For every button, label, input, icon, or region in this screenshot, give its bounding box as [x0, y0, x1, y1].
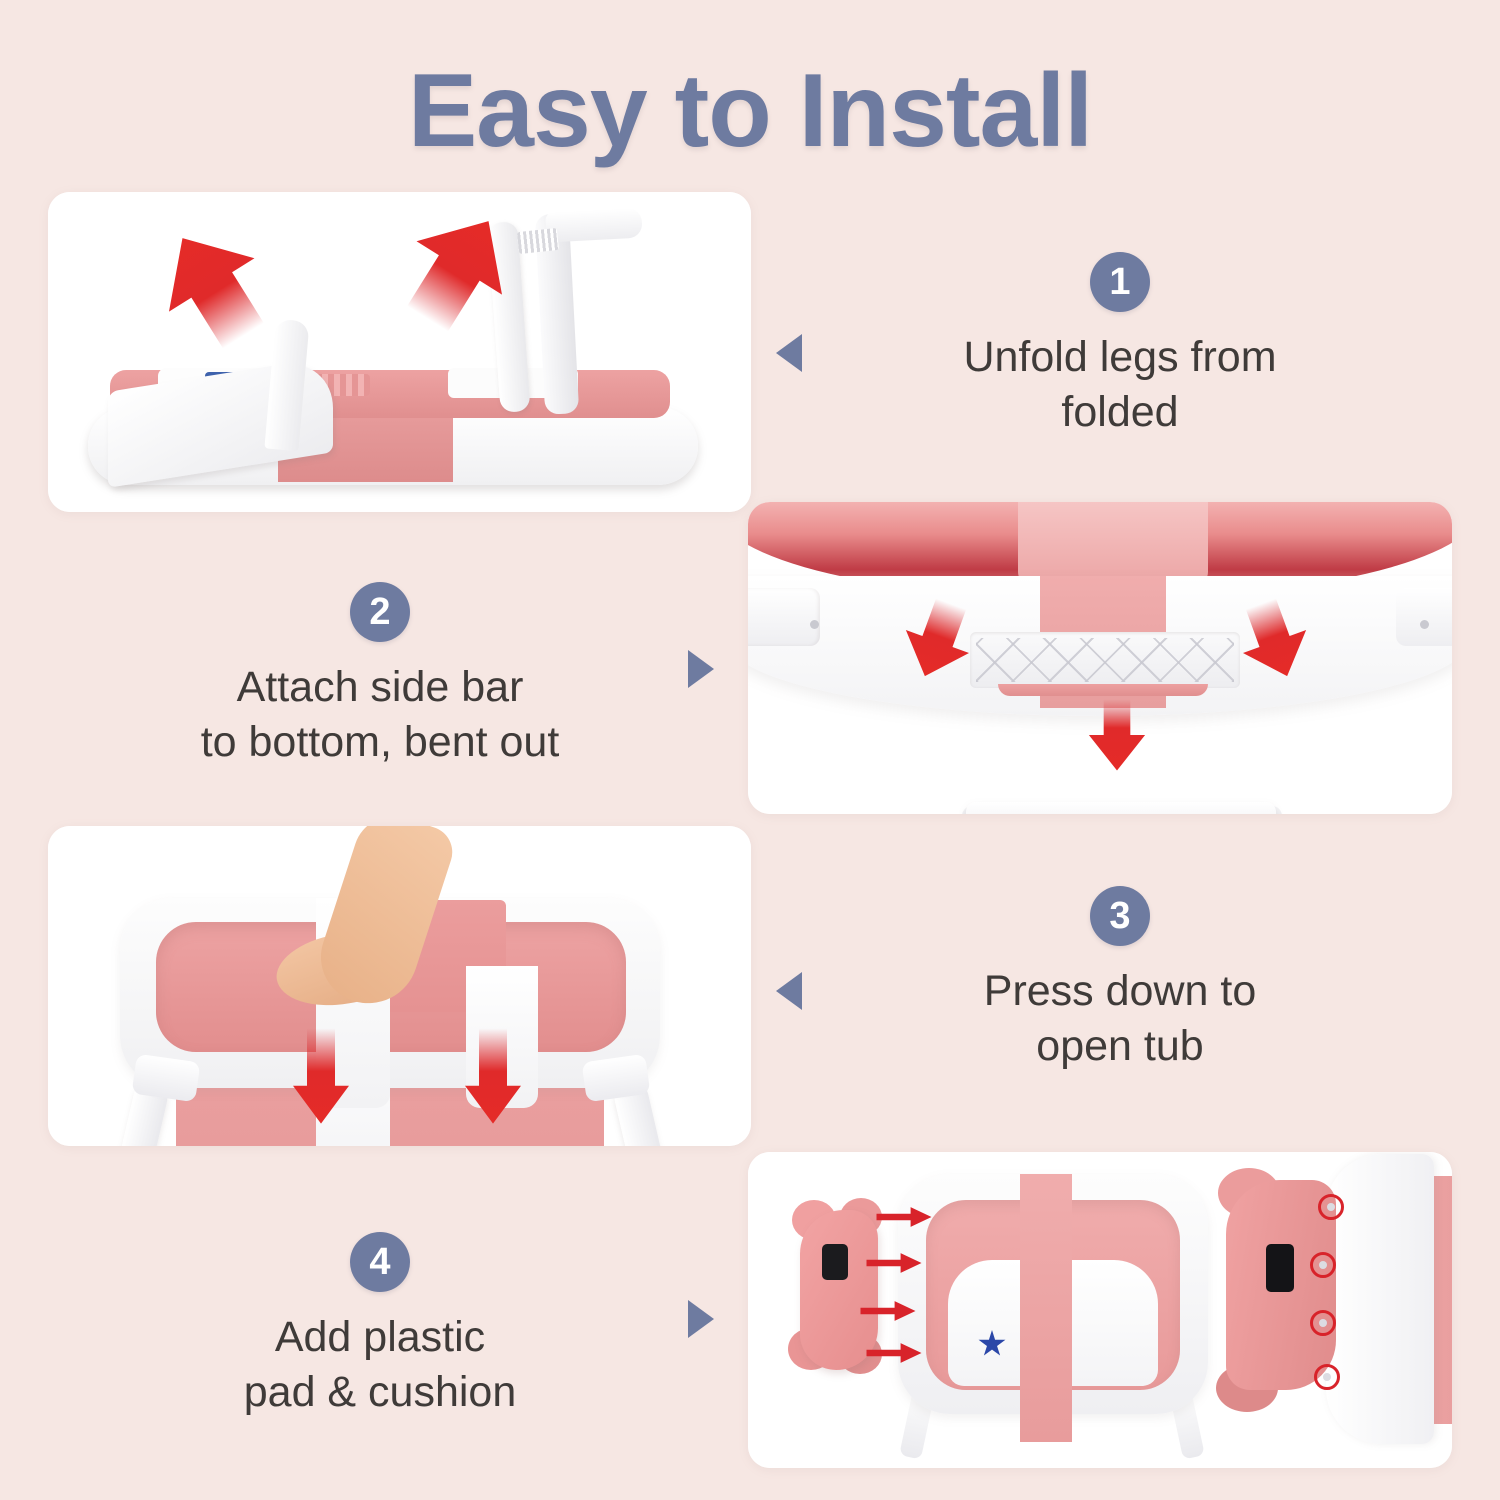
attachment-point-marker: [1310, 1252, 1336, 1278]
red-arrow-down-left-icon: [286, 1016, 356, 1136]
photo-step-4-image: [748, 1152, 1452, 1468]
step-3-text-line1: Press down to: [860, 964, 1380, 1019]
photo-step-4-left: [748, 1152, 1218, 1468]
step-2-block: 2 Attach side bar to bottom, bent out: [120, 582, 640, 770]
red-arrow-right-icon: [866, 1252, 922, 1274]
step-4-pointer-right-triangle-icon: [688, 1300, 714, 1338]
step-3-badge: 3: [1090, 886, 1150, 946]
bracket-screw-left: [810, 620, 819, 629]
step-1-badge: 1: [1090, 252, 1150, 312]
tub-rim-pink-band: [1018, 502, 1208, 586]
photo-step-4-right: [1218, 1152, 1452, 1468]
side-bar: [966, 802, 1276, 814]
bear-pad-window: [822, 1244, 848, 1280]
bear-pad-window: [1266, 1244, 1294, 1292]
step-1-text-line2: folded: [860, 385, 1380, 440]
tub-side-wall: [1326, 1154, 1434, 1444]
infographic-root: Easy to Install: [0, 0, 1500, 1500]
step-4-block: 4 Add plastic pad & cushion: [120, 1232, 640, 1420]
attachment-point-marker: [1318, 1194, 1344, 1220]
step-1-pointer-left-triangle-icon: [776, 334, 802, 372]
photo-step-2-image: [748, 502, 1452, 814]
step-4-badge: 4: [350, 1232, 410, 1292]
tub-leg-top-bracket: [545, 208, 642, 243]
tub-bracket-left: [748, 588, 820, 646]
slot-x-pattern: [976, 638, 1234, 682]
step-3-pointer-left-triangle-icon: [776, 972, 802, 1010]
photo-step-4: [748, 1152, 1452, 1468]
step-2-pointer-right-triangle-icon: [688, 650, 714, 688]
step-4-text-line1: Add plastic: [120, 1310, 640, 1365]
red-arrow-right-icon: [866, 1342, 922, 1364]
photo-step-3-image: [48, 826, 751, 1146]
red-arrow-down-icon: [1080, 690, 1154, 780]
step-4-text-line2: pad & cushion: [120, 1365, 640, 1420]
red-arrow-right-icon: [860, 1300, 916, 1322]
page-title: Easy to Install: [0, 52, 1500, 171]
photo-step-1-image: [48, 192, 751, 512]
photo-step-2: [748, 502, 1452, 814]
attachment-point-marker: [1314, 1364, 1340, 1390]
step-1-block: 1 Unfold legs from folded: [860, 252, 1380, 440]
tub-center-band: [1020, 1174, 1072, 1442]
red-arrow-up-left-icon: [130, 204, 295, 369]
step-1-text-line1: Unfold legs from: [860, 330, 1380, 385]
step-2-text-line2: to bottom, bent out: [120, 715, 640, 770]
tub-bracket-right: [1396, 588, 1452, 646]
step-3-block: 3 Press down to open tub: [860, 886, 1380, 1074]
bracket-screw-right: [1420, 620, 1429, 629]
photo-step-1: [48, 192, 751, 512]
photo-step-3: [48, 826, 751, 1146]
red-arrow-right-icon: [876, 1206, 932, 1228]
step-2-text-line1: Attach side bar: [120, 660, 640, 715]
attachment-point-marker: [1310, 1310, 1336, 1336]
step-3-text-line2: open tub: [860, 1019, 1380, 1074]
red-arrow-down-right-icon: [458, 1016, 528, 1136]
step-2-badge: 2: [350, 582, 410, 642]
